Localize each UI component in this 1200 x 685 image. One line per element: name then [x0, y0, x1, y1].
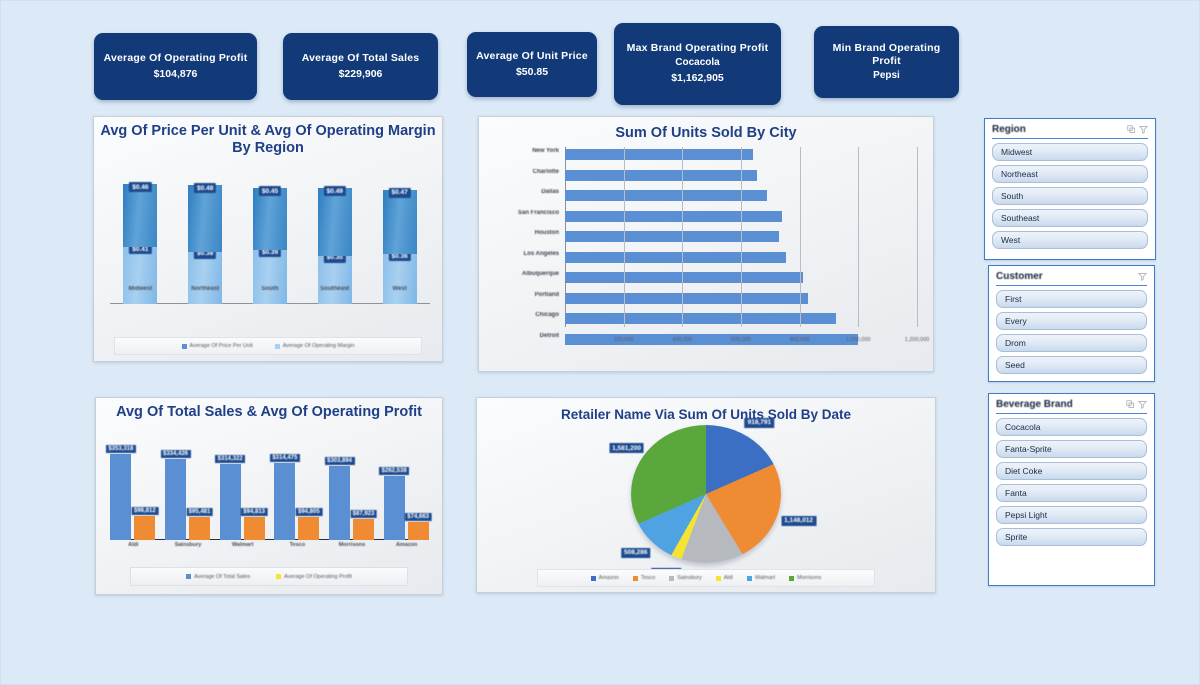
kpi-title: Average Of Total Sales: [302, 52, 420, 65]
sales-category-label: Amazon: [396, 542, 417, 548]
city-bar: [565, 293, 808, 304]
sales-data-label: $94,813: [241, 508, 268, 516]
sales-legend: Average Of Total Sales Average Of Operat…: [130, 567, 408, 586]
sales-bar-total-sales: $262,538: [384, 476, 405, 540]
kpi-title: Min Brand Operating Profit: [820, 42, 953, 68]
city-x-tick-label: 1,000,000: [846, 337, 870, 343]
region-bar-segment-price: $0.47: [383, 190, 417, 255]
sales-bar-operating-profit: $94,813: [244, 517, 265, 540]
chart-panel-city[interactable]: Sum Of Units Sold By City New YorkCharlo…: [478, 116, 934, 372]
region-bar-segment-margin: $0.41: [123, 247, 157, 304]
legend-swatch-icon: [716, 576, 721, 581]
sales-category-label: Morrisons: [339, 542, 366, 548]
sales-data-label: $314,475: [270, 454, 300, 462]
slicer-item[interactable]: Southeast: [992, 209, 1148, 227]
chart-panel-pie[interactable]: Retailer Name Via Sum Of Units Sold By D…: [476, 397, 936, 593]
slicer-item[interactable]: Fanta-Sprite: [996, 440, 1147, 458]
slicer-item[interactable]: Fanta: [996, 484, 1147, 502]
pie-plot-area: 918,7911,148,012721,864123,485508,2861,5…: [477, 424, 935, 564]
city-gridline: [741, 147, 742, 327]
slicer-item[interactable]: Pepsi Light: [996, 506, 1147, 524]
region-legend: Average Of Price Per Unit Average Of Ope…: [114, 337, 422, 355]
kpi-card-average-total-sales[interactable]: Average Of Total Sales $229,906: [283, 33, 438, 100]
slicer-item[interactable]: South: [992, 187, 1148, 205]
region-bar-group[interactable]: $0.39$0.45South: [250, 188, 290, 304]
slicer-item-list: FirstEveryDromSeed: [996, 290, 1147, 374]
slicer-item[interactable]: Midwest: [992, 143, 1148, 161]
region-bar-segment-price: $0.48: [188, 185, 222, 251]
city-bar: [565, 190, 767, 201]
kpi-card-max-brand-operating-profit[interactable]: Max Brand Operating Profit Cocacola $1,1…: [614, 23, 781, 105]
legend-item: Morrisons: [789, 575, 821, 581]
sales-bar-operating-profit: $94,805: [298, 517, 319, 540]
city-gridline: [682, 147, 683, 327]
legend-label: Average Of Operating Profit: [284, 574, 352, 580]
legend-swatch-icon: [275, 344, 280, 349]
legend-item: Average Of Price Per Unit: [182, 343, 253, 349]
city-x-tick-label: 600,000: [731, 337, 751, 343]
clear-filter-icon[interactable]: [1138, 400, 1147, 409]
sales-data-label: $74,663: [405, 513, 432, 521]
sales-bar-operating-profit: $74,663: [408, 522, 429, 540]
city-category-label: Detroit: [487, 333, 559, 339]
legend-item: Amazon: [591, 575, 619, 581]
city-bar: [565, 231, 779, 242]
sales-bar-total-sales: $314,322: [220, 464, 241, 541]
slicer-title: Customer: [996, 271, 1135, 282]
kpi-title: Average Of Operating Profit: [104, 52, 248, 65]
dashboard-canvas: Average Of Operating Profit $104,876 Ave…: [0, 0, 1200, 685]
pie-data-label: 508,286: [621, 548, 651, 558]
sales-bar-total-sales: $303,894: [329, 466, 350, 540]
sales-data-label: $87,923: [350, 510, 377, 518]
legend-swatch-icon: [186, 574, 191, 579]
region-bar-segment-margin: $0.35: [318, 256, 352, 304]
kpi-value: $1,162,905: [671, 71, 724, 85]
region-bar-segment-margin: $0.38: [188, 252, 222, 304]
slicer-customer[interactable]: Customer FirstEveryDromSeed: [988, 265, 1155, 382]
city-category-label: Portland: [487, 292, 559, 298]
city-x-tick-label: 400,000: [672, 337, 692, 343]
slicer-header: Customer: [996, 271, 1147, 286]
sales-data-label: $94,805: [295, 508, 322, 516]
sales-plot-area: $353,318$98,812Aldi$334,426$95,481Sainsb…: [106, 454, 434, 564]
slicer-item[interactable]: Northeast: [992, 165, 1148, 183]
sales-x-axis: [114, 539, 426, 540]
city-bar: [565, 334, 858, 345]
kpi-title: Average Of Unit Price: [476, 50, 588, 63]
slicer-item[interactable]: Seed: [996, 356, 1147, 374]
legend-label: Amazon: [599, 575, 619, 581]
clear-filter-icon[interactable]: [1139, 125, 1148, 134]
region-bar-group[interactable]: $0.35$0.49Southeast: [315, 188, 355, 304]
kpi-subtitle: Cocacola: [675, 56, 719, 69]
legend-item: Tesco: [633, 575, 655, 581]
region-category-label: Midwest: [129, 286, 153, 292]
city-bar: [565, 272, 803, 283]
legend-item: Average Of Operating Margin: [275, 343, 355, 349]
chart-title-pie: Retailer Name Via Sum Of Units Sold By D…: [477, 398, 935, 423]
city-category-label: San Francisco: [487, 210, 559, 216]
legend-label: Average Of Operating Margin: [283, 343, 355, 349]
chart-panel-region[interactable]: Avg Of Price Per Unit & Avg Of Operating…: [93, 116, 443, 362]
slicer-item[interactable]: Drom: [996, 334, 1147, 352]
region-bar-segment-margin: $0.39: [253, 250, 287, 304]
legend-label: Aldi: [724, 575, 733, 581]
legend-item: Walmart: [747, 575, 775, 581]
legend-swatch-icon: [591, 576, 596, 581]
region-bar-group[interactable]: $0.38$0.48Northeast: [185, 185, 225, 304]
slicer-region[interactable]: Region MidwestNortheastSouthSoutheastWes…: [984, 118, 1156, 260]
slicer-item[interactable]: First: [996, 290, 1147, 308]
slicer-item[interactable]: West: [992, 231, 1148, 249]
city-gridline: [917, 147, 918, 327]
legend-swatch-icon: [182, 344, 187, 349]
slicer-item[interactable]: Diet Coke: [996, 462, 1147, 480]
legend-item: Average Of Total Sales: [186, 574, 250, 580]
sales-bar-total-sales: $334,426: [165, 459, 186, 540]
city-category-label: New York: [487, 148, 559, 154]
region-data-label: $0.48: [194, 183, 216, 193]
sales-data-label: $353,318: [106, 445, 136, 453]
region-bar-segment-price: $0.49: [318, 188, 352, 256]
slicer-item-list: MidwestNortheastSouthSoutheastWest: [992, 143, 1148, 249]
region-category-label: South: [262, 286, 279, 292]
slicer-title: Beverage Brand: [996, 399, 1123, 410]
sales-data-label: $314,322: [215, 455, 245, 463]
city-gridline: [858, 147, 859, 327]
sales-data-label: $98,812: [131, 507, 158, 515]
pie-legend: AmazonTescoSainsburyAldiWalmartMorrisons: [537, 569, 875, 587]
kpi-value: $229,906: [339, 67, 383, 81]
legend-label: Walmart: [755, 575, 775, 581]
legend-label: Average Of Price Per Unit: [190, 343, 253, 349]
legend-item: Aldi: [716, 575, 733, 581]
city-bar: [565, 170, 757, 181]
city-x-tick-label: 200,000: [614, 337, 634, 343]
slicer-item[interactable]: Cocacola: [996, 418, 1147, 436]
slicer-header: Beverage Brand: [996, 399, 1147, 414]
sales-category-label: Sainsbury: [175, 542, 202, 548]
multi-select-icon[interactable]: [1126, 400, 1135, 409]
sales-category-label: Aldi: [128, 542, 138, 548]
city-plot-area: New YorkCharlotteDallasSan FranciscoHous…: [487, 147, 923, 345]
city-bar: [565, 211, 782, 222]
region-category-label: Northeast: [191, 286, 219, 292]
kpi-card-min-brand-operating-profit[interactable]: Min Brand Operating Profit Pepsi: [814, 26, 959, 98]
kpi-subtitle: Pepsi: [873, 69, 900, 82]
city-category-label: Dallas: [487, 189, 559, 195]
legend-item: Sainsbury: [669, 575, 701, 581]
region-bar-segment-price: $0.45: [253, 188, 287, 250]
city-x-tick-label: 800,000: [790, 337, 810, 343]
slicer-title: Region: [992, 124, 1124, 135]
region-category-label: West: [392, 286, 406, 292]
sales-data-label: $303,894: [324, 457, 354, 465]
slicer-item[interactable]: Sprite: [996, 528, 1147, 546]
legend-swatch-icon: [276, 574, 281, 579]
legend-item: Average Of Operating Profit: [276, 574, 352, 580]
sales-category-label: Walmart: [232, 542, 254, 548]
sales-bar-total-sales: $314,475: [274, 463, 295, 540]
city-category-label: Albuquerque: [487, 271, 559, 277]
kpi-card-row: Average Of Operating Profit $104,876 Ave…: [1, 1, 1200, 116]
legend-label: Morrisons: [797, 575, 821, 581]
legend-swatch-icon: [669, 576, 674, 581]
region-data-label: $0.47: [388, 188, 410, 198]
kpi-card-average-operating-profit[interactable]: Average Of Operating Profit $104,876: [94, 33, 257, 100]
pie-disc[interactable]: [631, 425, 781, 563]
city-bar: [565, 313, 836, 324]
legend-swatch-icon: [747, 576, 752, 581]
legend-swatch-icon: [633, 576, 638, 581]
kpi-card-average-unit-price[interactable]: Average Of Unit Price $50.85: [467, 32, 597, 97]
sales-bar-operating-profit: $98,812: [134, 516, 155, 540]
clear-filter-icon[interactable]: [1138, 272, 1147, 281]
sales-data-label: $262,538: [379, 467, 409, 475]
city-gridline: [800, 147, 801, 327]
city-category-label: Charlotte: [487, 169, 559, 175]
pie-data-label: 1,148,012: [781, 516, 816, 526]
region-data-label: $0.49: [324, 186, 346, 196]
sales-bar-total-sales: $353,318: [110, 454, 131, 540]
city-gridline: [624, 147, 625, 327]
city-bar: [565, 252, 786, 263]
city-x-tick-label: 1,200,000: [905, 337, 929, 343]
region-bar-segment-price: $0.46: [123, 184, 157, 247]
chart-title-region: Avg Of Price Per Unit & Avg Of Operating…: [94, 117, 442, 157]
kpi-value: $50.85: [516, 65, 548, 79]
sales-bar-operating-profit: $95,481: [189, 517, 210, 540]
legend-label: Average Of Total Sales: [194, 574, 250, 580]
chart-panel-sales[interactable]: Avg Of Total Sales & Avg Of Operating Pr…: [95, 397, 443, 595]
city-category-label: Chicago: [487, 312, 559, 318]
pie-data-label: 918,791: [745, 418, 775, 428]
region-category-label: Southeast: [320, 286, 349, 292]
region-plot-area: $0.41$0.46Midwest$0.38$0.48Northeast$0.3…: [108, 179, 432, 334]
legend-label: Tesco: [641, 575, 655, 581]
city-bar: [565, 149, 753, 160]
sales-data-label: $95,481: [186, 508, 213, 516]
slicer-header: Region: [992, 124, 1148, 139]
legend-swatch-icon: [789, 576, 794, 581]
slicer-beverage-brand[interactable]: Beverage Brand CocacolaFanta-SpriteDiet …: [988, 393, 1155, 586]
city-category-label: Houston: [487, 230, 559, 236]
sales-category-label: Tesco: [290, 542, 306, 548]
legend-label: Sainsbury: [677, 575, 701, 581]
region-bar-group[interactable]: $0.41$0.46Midwest: [120, 184, 160, 304]
chart-title-sales: Avg Of Total Sales & Avg Of Operating Pr…: [96, 398, 442, 421]
city-category-label: Los Angeles: [487, 251, 559, 257]
region-bar-segment-margin: $0.36: [383, 254, 417, 304]
slicer-item[interactable]: Every: [996, 312, 1147, 330]
region-data-label: $0.45: [259, 186, 281, 196]
multi-select-icon[interactable]: [1127, 125, 1136, 134]
sales-data-label: $334,426: [160, 450, 190, 458]
chart-title-city: Sum Of Units Sold By City: [479, 117, 933, 142]
pie-data-label: 1,581,200: [609, 443, 644, 453]
region-bar-group[interactable]: $0.36$0.47West: [380, 190, 420, 304]
kpi-value: $104,876: [154, 67, 198, 81]
sales-bar-operating-profit: $87,923: [353, 519, 374, 540]
kpi-title: Max Brand Operating Profit: [627, 42, 769, 55]
slicer-item-list: CocacolaFanta-SpriteDiet CokeFantaPepsi …: [996, 418, 1147, 546]
region-data-label: $0.46: [129, 182, 151, 192]
